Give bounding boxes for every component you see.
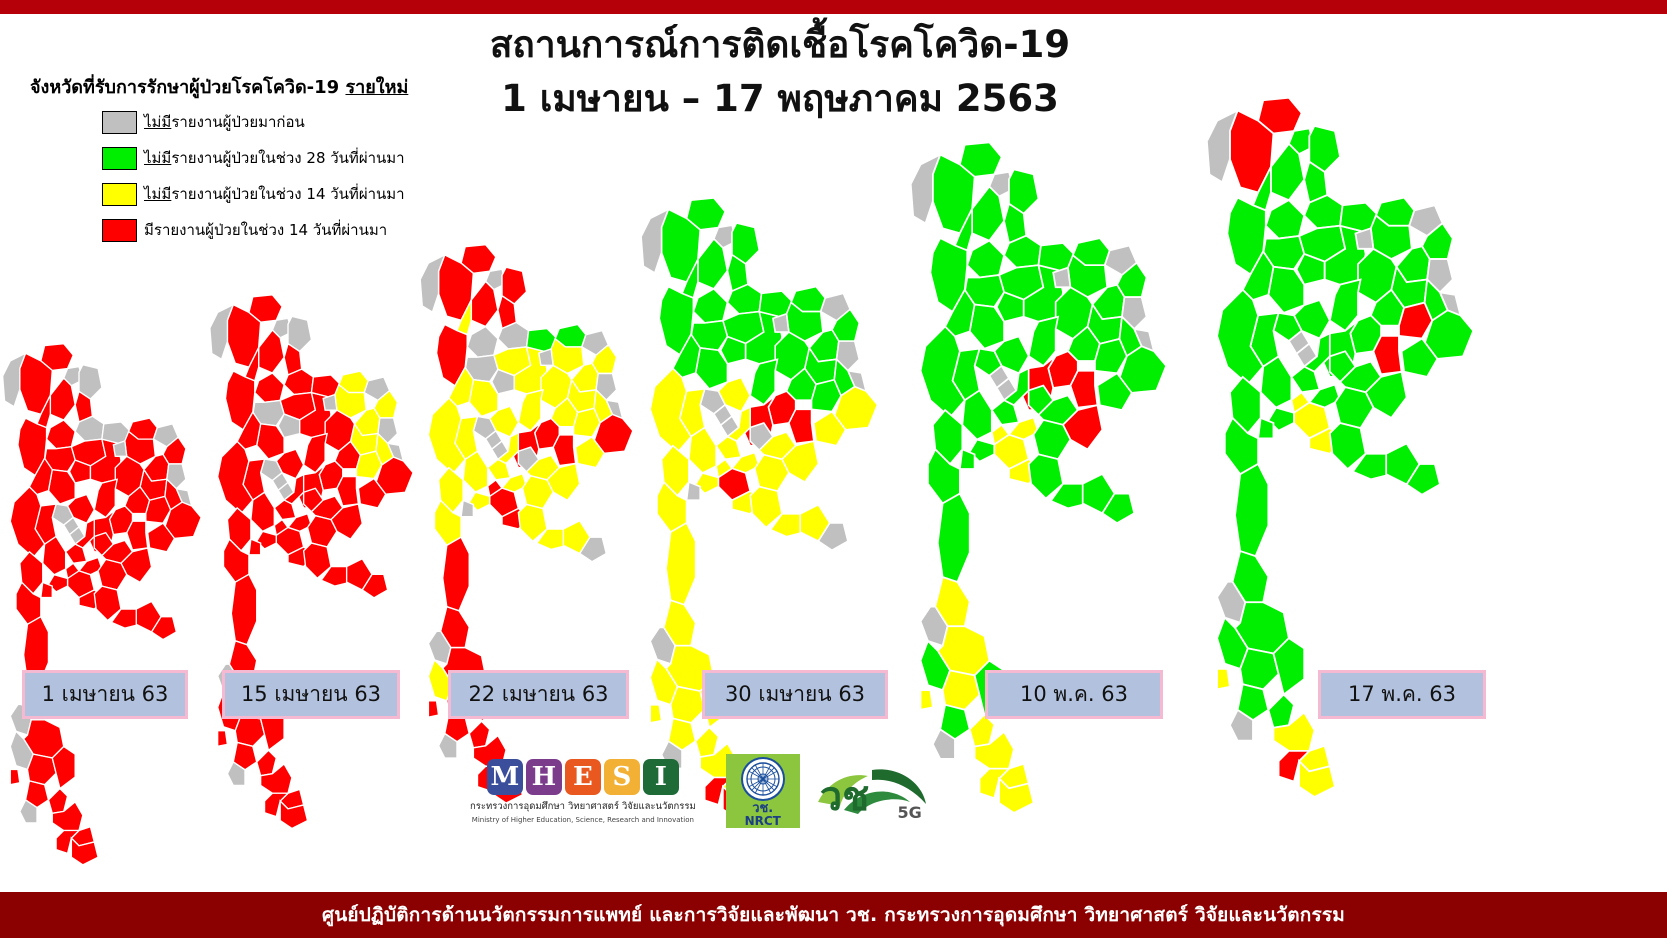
province-phuket: [650, 705, 661, 723]
province-phuket: [428, 701, 438, 717]
date-label-1: 1 เมษายน 63: [22, 670, 188, 719]
province-phatthalung: [48, 789, 67, 814]
date-label-6: 17 พ.ค. 63: [1318, 670, 1486, 719]
footer-text: ศูนย์ปฏิบัติการด้านนวัตกรรมการแพทย์ และก…: [322, 900, 1345, 930]
mhesi-tile-e: E: [565, 759, 601, 795]
vch-5g-text: 5G: [897, 803, 921, 822]
province-sukhothai: [1266, 200, 1304, 238]
province-phatthalung: [257, 750, 277, 775]
map-panel-3: [412, 230, 637, 820]
vch-5g-logo: วช 5G: [814, 756, 934, 826]
thailand-map-3: [412, 230, 637, 830]
nrct-seal-icon: [741, 757, 785, 801]
province-phatthalung: [970, 715, 995, 747]
date-label-2: 15 เมษายน 63: [222, 670, 400, 719]
mhesi-tile-s: S: [604, 759, 640, 795]
map-panel-1: [0, 330, 205, 920]
vch-logo-text: วช: [820, 764, 870, 828]
thailand-map-2: [202, 280, 417, 855]
thailand-map-4: [632, 185, 882, 845]
province-prachuap: [938, 494, 970, 582]
thailand-map-1: [0, 330, 205, 890]
mhesi-logo: MHESI กระทรวงการอุดมศึกษา วิทยาศาสตร์ วิ…: [470, 759, 696, 824]
mhesi-tile-m: M: [487, 759, 523, 795]
nrct-thai-abbr: วช.: [752, 802, 773, 815]
province-sukhothai: [255, 373, 284, 402]
province-phuket: [10, 769, 20, 784]
province-prachuap: [443, 537, 470, 611]
title-line-1: สถานการณ์การติดเชื้อโรคโควิด-19: [430, 18, 1130, 72]
map-panel-5: [900, 135, 1172, 725]
top-accent-bar: [0, 0, 1667, 14]
nrct-english-abbr: NRCT: [745, 815, 781, 828]
province-phatthalung: [1268, 694, 1294, 727]
mhesi-english-name: Ministry of Higher Education, Science, R…: [472, 816, 694, 824]
province-phatthalung: [469, 721, 489, 748]
mhesi-letter-tiles: MHESI: [487, 759, 679, 795]
mhesi-thai-name: กระทรวงการอุดมศึกษา วิทยาศาสตร์ วิจัยและ…: [470, 799, 696, 814]
nrct-logo: วช. NRCT: [726, 754, 800, 828]
province-sukhothai: [467, 326, 498, 357]
footer-bar: ศูนย์ปฏิบัติการด้านนวัตกรรมการแพทย์ และก…: [0, 892, 1667, 938]
date-label-3: 22 เมษายน 63: [448, 670, 629, 719]
map-panel-6: [1195, 90, 1480, 680]
province-phuket: [218, 731, 228, 747]
map-panel-2: [202, 280, 417, 870]
province-sukhothai: [693, 289, 727, 323]
province-phuket: [921, 690, 933, 710]
thailand-map-5: [900, 135, 1172, 835]
province-prachuap: [1235, 464, 1268, 556]
logo-row: MHESI กระทรวงการอุดมศึกษา วิทยาศาสตร์ วิ…: [470, 752, 950, 830]
mhesi-tile-i: I: [643, 759, 679, 795]
province-sukhothai: [967, 241, 1004, 278]
province-sukhothai: [47, 420, 76, 449]
map-series: [0, 90, 1667, 680]
province-phuket: [1217, 669, 1230, 689]
province-prachuap: [666, 523, 696, 605]
date-label-5: 10 พ.ค. 63: [985, 670, 1163, 719]
date-label-4: 30 เมษายน 63: [702, 670, 888, 719]
province-prachuap: [231, 574, 256, 644]
mhesi-tile-h: H: [526, 759, 562, 795]
